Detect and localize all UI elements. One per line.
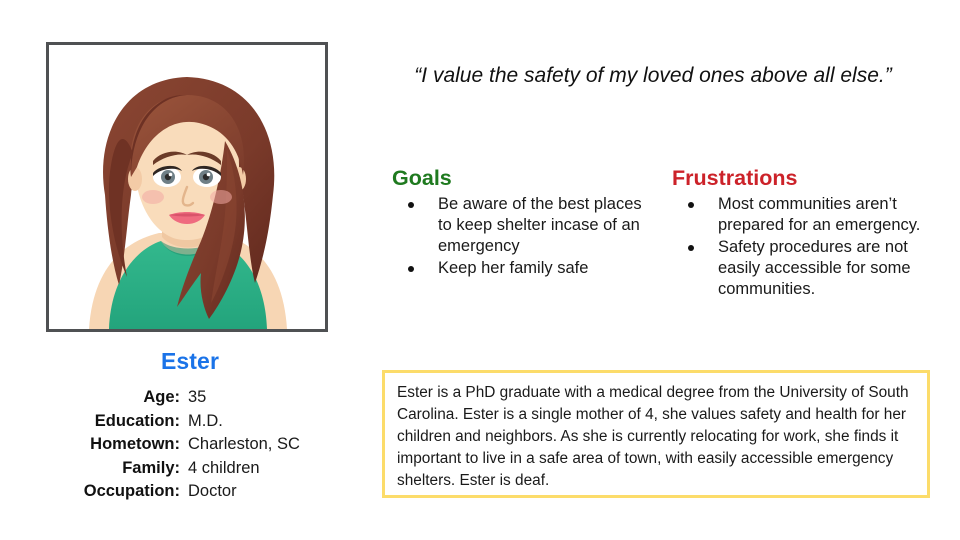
detail-label-occupation: Occupation: bbox=[30, 482, 188, 501]
goals-list-item: Be aware of the best places to keep shel… bbox=[392, 194, 644, 257]
detail-row-education: Education: M.D. bbox=[30, 412, 350, 431]
goals-section: Goals Be aware of the best places to kee… bbox=[392, 166, 644, 280]
persona-name: Ester bbox=[46, 348, 334, 375]
goals-heading: Goals bbox=[392, 166, 644, 192]
detail-label-family: Family: bbox=[30, 459, 188, 478]
detail-value-age: 35 bbox=[188, 388, 206, 407]
detail-value-family: 4 children bbox=[188, 459, 260, 478]
frustrations-section: Frustrations Most communities aren’t pre… bbox=[672, 166, 930, 301]
bullet-icon bbox=[688, 202, 694, 208]
frustrations-item-text: Safety procedures are not easily accessi… bbox=[718, 238, 911, 298]
detail-value-hometown: Charleston, SC bbox=[188, 435, 300, 454]
goals-item-text: Be aware of the best places to keep shel… bbox=[438, 195, 642, 255]
detail-label-hometown: Hometown: bbox=[30, 435, 188, 454]
frustrations-list-item: Most communities aren’t prepared for an … bbox=[672, 194, 930, 236]
persona-avatar-illustration bbox=[49, 45, 325, 329]
goals-item-text: Keep her family safe bbox=[438, 259, 588, 277]
persona-details-list: Age: 35 Education: M.D. Hometown: Charle… bbox=[30, 388, 350, 506]
persona-bio-box: Ester is a PhD graduate with a medical d… bbox=[382, 370, 930, 498]
bullet-icon bbox=[408, 266, 414, 272]
detail-row-family: Family: 4 children bbox=[30, 459, 350, 478]
detail-value-occupation: Doctor bbox=[188, 482, 237, 501]
detail-label-education: Education: bbox=[30, 412, 188, 431]
bullet-icon bbox=[408, 202, 414, 208]
persona-quote: “I value the safety of my loved ones abo… bbox=[392, 62, 914, 90]
frustrations-item-text: Most communities aren’t prepared for an … bbox=[718, 195, 920, 234]
detail-row-age: Age: 35 bbox=[30, 388, 350, 407]
detail-label-age: Age: bbox=[30, 388, 188, 407]
persona-bio-text: Ester is a PhD graduate with a medical d… bbox=[397, 382, 915, 491]
persona-photo-frame bbox=[46, 42, 328, 332]
detail-value-education: M.D. bbox=[188, 412, 223, 431]
bullet-icon bbox=[688, 245, 694, 251]
frustrations-list-item: Safety procedures are not easily accessi… bbox=[672, 237, 930, 300]
frustrations-list: Most communities aren’t prepared for an … bbox=[672, 194, 930, 301]
goals-list-item: Keep her family safe bbox=[392, 258, 644, 279]
goals-list: Be aware of the best places to keep shel… bbox=[392, 194, 644, 279]
detail-row-hometown: Hometown: Charleston, SC bbox=[30, 435, 350, 454]
frustrations-heading: Frustrations bbox=[672, 166, 930, 192]
detail-row-occupation: Occupation: Doctor bbox=[30, 482, 350, 501]
